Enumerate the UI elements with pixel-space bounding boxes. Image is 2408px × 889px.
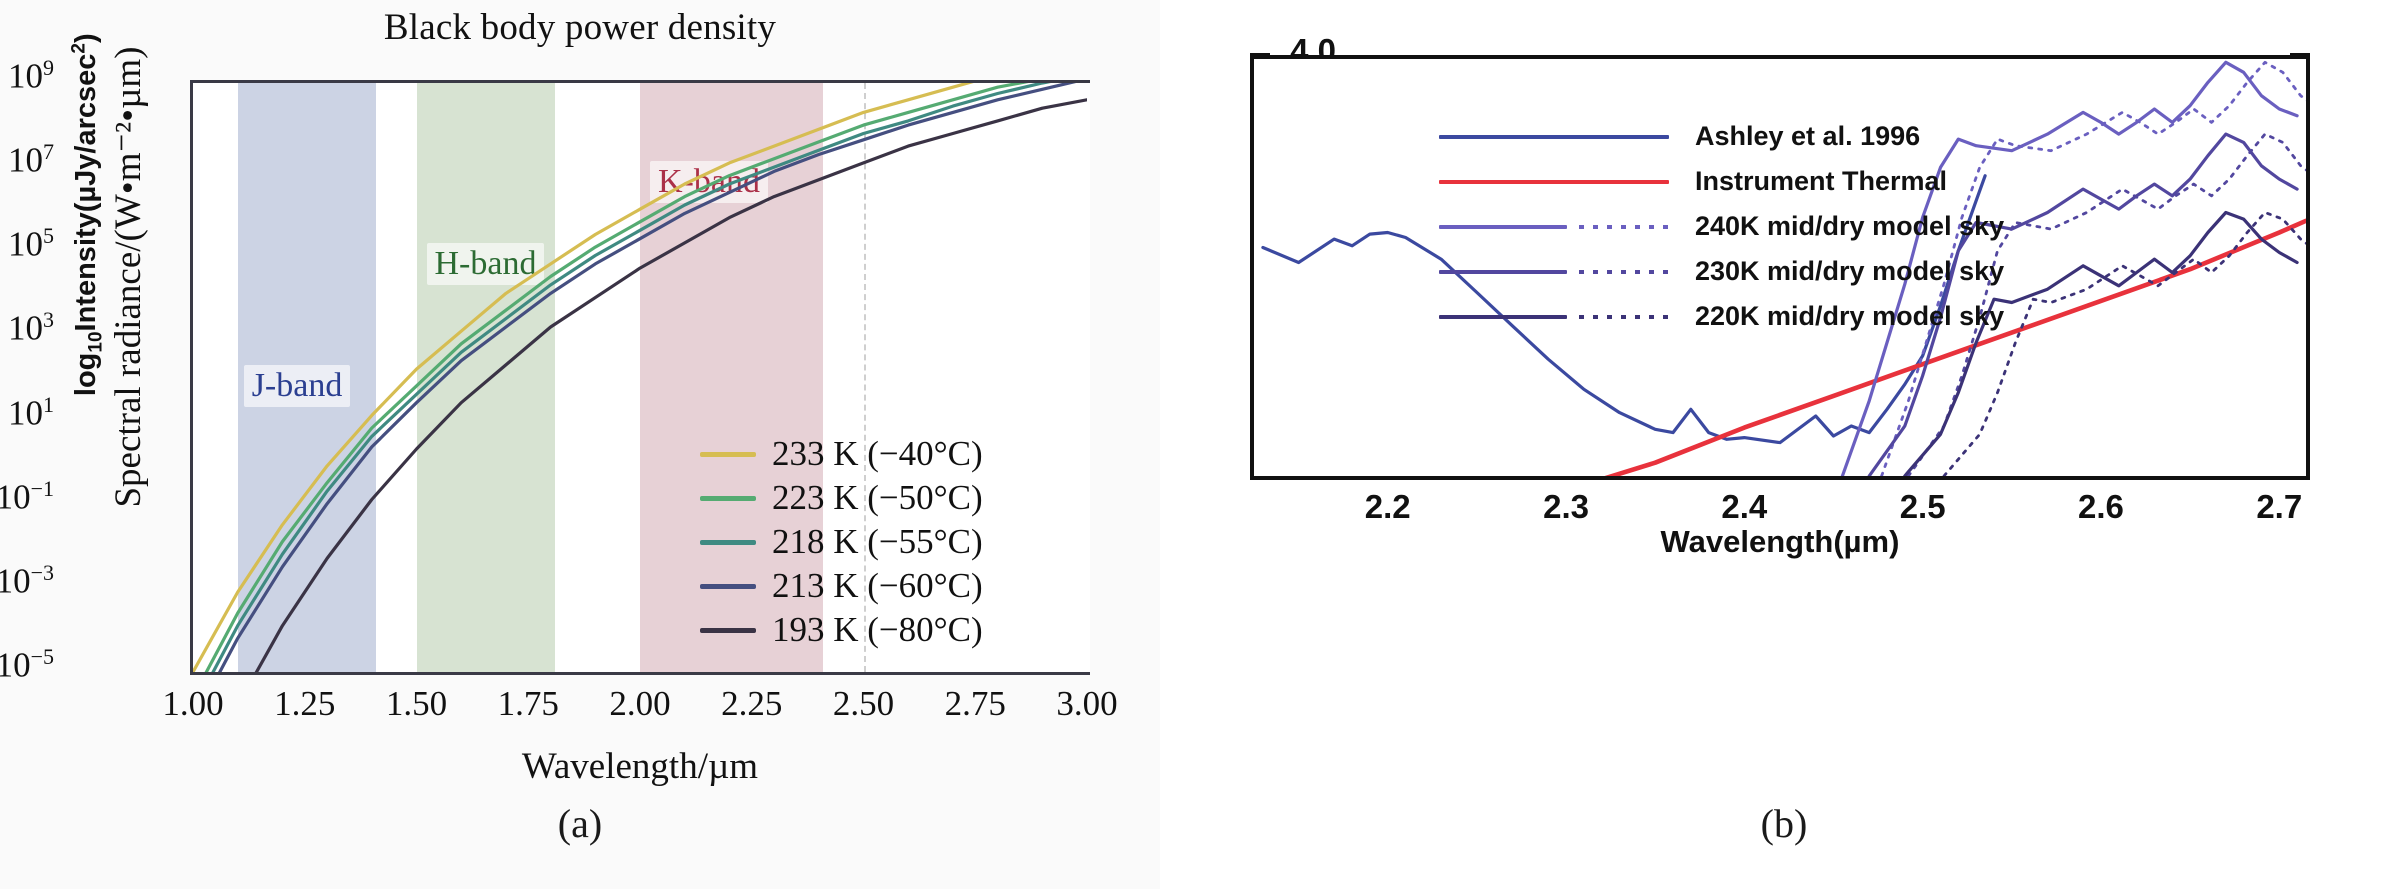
panel-b-legend-item: 230K mid/dry model sky bbox=[1439, 249, 2004, 294]
legend-key bbox=[1439, 171, 1669, 193]
panel-b-y-tickmark-right bbox=[2290, 470, 2310, 475]
panel-b-x-tickmark bbox=[1921, 458, 1926, 476]
panel-a-legend-item: 193 K (−80°C) bbox=[700, 608, 983, 652]
panel-b-caption: (b) bbox=[1160, 800, 2408, 847]
panel-b-x-tickmark-top bbox=[1386, 59, 1391, 77]
panel-a-y-tick: 109 bbox=[0, 55, 54, 97]
panel-a-caption: (a) bbox=[0, 800, 1160, 847]
legend-key bbox=[1439, 261, 1669, 283]
panel-a-legend-label: 218 K (−55°C) bbox=[772, 522, 983, 562]
legend-key bbox=[1439, 126, 1669, 148]
panel-b-minor-tickmark bbox=[2030, 59, 2033, 69]
panel-b-x-tickmark bbox=[2099, 458, 2104, 476]
panel-b-minor-tickmark bbox=[1673, 59, 1676, 69]
panel-b-y-tick: 3.5 bbox=[1186, 115, 1336, 153]
panel-b-minor-tickmark bbox=[2208, 59, 2211, 69]
panel-b-legend-label: Ashley et al. 1996 bbox=[1695, 121, 1920, 152]
panel-a-y-tick: 10−3 bbox=[0, 560, 54, 602]
panel-b-legend-item: 240K mid/dry model sky bbox=[1439, 204, 2004, 249]
panel-b-x-tickmark bbox=[1386, 458, 1391, 476]
panel-b-minor-tickmark bbox=[1602, 59, 1605, 69]
legend-key bbox=[1439, 306, 1669, 328]
panel-b-legend-item: 220K mid/dry model sky bbox=[1439, 294, 2004, 339]
curve-ashleyetal1996 bbox=[1263, 176, 1985, 443]
panel-a-legend-item: 223 K (−50°C) bbox=[700, 476, 983, 520]
panel-b-legend: Ashley et al. 1996Instrument Thermal240K… bbox=[1439, 114, 2004, 339]
panel-a-y-tick: 105 bbox=[0, 223, 54, 265]
panel-a-legend-item: 213 K (−60°C) bbox=[700, 564, 983, 608]
panel-b-x-tickmark-top bbox=[2099, 59, 2104, 77]
panel-a-y-axis-label-text: Spectral radiance/(W•m⁻²•µm) bbox=[108, 46, 149, 507]
curve-instrumentthermal bbox=[1602, 221, 2306, 476]
legend-swatch bbox=[700, 584, 756, 589]
panel-b-minor-tickmark bbox=[1923, 59, 1926, 69]
panel-b-y-tickmark bbox=[1250, 220, 1270, 225]
panel-b-minor-tickmark bbox=[1816, 59, 1819, 69]
curve-230kmiddrymodelsky bbox=[1869, 134, 2297, 476]
panel-a: Black body power density Spectral radian… bbox=[0, 0, 1160, 889]
panel-b-minor-tickmark bbox=[1388, 59, 1391, 69]
panel-b-legend-label: Instrument Thermal bbox=[1695, 166, 1947, 197]
panel-a-y-axis-label: Spectral radiance/(W•m⁻²•µm) bbox=[106, 0, 150, 557]
panel-b-minor-tickmark bbox=[1851, 59, 1854, 69]
panel-a-y-tick: 10−5 bbox=[0, 644, 54, 686]
panel-b-minor-tickmark bbox=[1459, 59, 1462, 69]
panel-b-y-tickmark-right bbox=[2290, 303, 2310, 308]
panel-a-title: Black body power density bbox=[0, 6, 1160, 49]
panel-b-minor-tickmark bbox=[1780, 59, 1783, 69]
panel-b-x-tickmark bbox=[1742, 458, 1747, 476]
panel-b-y-tick: 3.0 bbox=[1186, 199, 1336, 237]
panel-a-y-tick: 107 bbox=[0, 139, 54, 181]
curve-240kmiddrymodelsky bbox=[1842, 62, 2297, 476]
panel-b-minor-tickmark bbox=[2279, 59, 2282, 69]
legend-swatch bbox=[700, 628, 756, 633]
panel-b-minor-tickmark bbox=[1423, 59, 1426, 69]
legend-swatch bbox=[700, 540, 756, 545]
curve-220kmiddrymodelsky-dotted bbox=[1944, 213, 2306, 477]
curve-220kmiddrymodelsky bbox=[1905, 213, 2297, 477]
panel-a-legend-label: 223 K (−50°C) bbox=[772, 478, 983, 518]
panel-b-minor-tickmark bbox=[1495, 59, 1498, 69]
panel-a-y-tick: 10−1 bbox=[0, 476, 54, 518]
panel-b-y-tickmark-right bbox=[2290, 136, 2310, 141]
panel-b-y-tickmark-right bbox=[2290, 387, 2310, 392]
panel-b-minor-tickmark bbox=[2065, 59, 2068, 69]
panel-b-minor-tickmark bbox=[2101, 59, 2104, 69]
panel-b-x-tickmark-top bbox=[2277, 59, 2282, 77]
panel-b-x-axis-label: Wavelength(µm) bbox=[1250, 524, 2310, 560]
panel-b-y-tickmark bbox=[1250, 387, 1270, 392]
panel-b-legend-label: 230K mid/dry model sky bbox=[1695, 256, 2004, 287]
curve-230kmiddrymodelsky-dotted bbox=[1908, 134, 2306, 476]
panel-b-x-tickmark-top bbox=[1742, 59, 1747, 77]
panel-b-minor-tickmark bbox=[1530, 59, 1533, 69]
panel-b-y-tick: 4.0 bbox=[1186, 32, 1336, 70]
panel-b-y-tick: 1.5 bbox=[1186, 449, 1336, 487]
panel-b-minor-tickmark bbox=[2244, 59, 2247, 69]
panel-b-y-tickmark bbox=[1250, 470, 1270, 475]
panel-b-legend-label: 220K mid/dry model sky bbox=[1695, 301, 2004, 332]
curve-240kmiddrymodelsky-dotted bbox=[1882, 62, 2306, 476]
panel-a-legend-item: 233 K (−40°C) bbox=[700, 432, 983, 476]
panel-b-x-tick: 2.3 bbox=[1491, 488, 1641, 526]
panel-b-y-tickmark bbox=[1250, 136, 1270, 141]
panel-b-x-tick: 2.4 bbox=[1669, 488, 1819, 526]
panel-b-y-tickmark-right bbox=[2290, 53, 2310, 58]
panel-a-legend-label: 233 K (−40°C) bbox=[772, 434, 983, 474]
panel-b-legend-label: 240K mid/dry model sky bbox=[1695, 211, 2004, 242]
panel-b-x-tickmark-top bbox=[1564, 59, 1569, 77]
panel-b-minor-tickmark bbox=[1566, 59, 1569, 69]
panel-b-y-tickmark bbox=[1250, 53, 1270, 58]
panel-b: log10Intensity(µJy/arcsec2) 4.03.53.02.5… bbox=[1160, 0, 2408, 889]
panel-b-x-tick: 2.2 bbox=[1313, 488, 1463, 526]
panel-b-x-tickmark-top bbox=[1921, 59, 1926, 77]
panel-b-minor-tickmark bbox=[1994, 59, 1997, 69]
panel-b-minor-tickmark bbox=[1887, 59, 1890, 69]
panel-b-minor-tickmark bbox=[1637, 59, 1640, 69]
panel-b-minor-tickmark bbox=[1744, 59, 1747, 69]
figure-root: Black body power density Spectral radian… bbox=[0, 0, 2408, 889]
panel-b-y-tick: 2.5 bbox=[1186, 282, 1336, 320]
panel-a-legend-item: 218 K (−55°C) bbox=[700, 520, 983, 564]
panel-b-x-tick: 2.5 bbox=[1848, 488, 1998, 526]
panel-b-minor-tickmark bbox=[1709, 59, 1712, 69]
panel-b-minor-tickmark bbox=[2137, 59, 2140, 69]
panel-a-x-axis-label: Wavelength/µm bbox=[190, 745, 1090, 788]
panel-a-y-tick: 101 bbox=[0, 392, 54, 434]
legend-swatch bbox=[700, 452, 756, 457]
panel-b-x-tick: 2.7 bbox=[2204, 488, 2354, 526]
panel-b-minor-tickmark bbox=[1352, 59, 1355, 69]
legend-key bbox=[1439, 216, 1669, 238]
panel-a-legend-label: 193 K (−80°C) bbox=[772, 610, 983, 650]
panel-b-minor-tickmark bbox=[1316, 59, 1319, 69]
panel-b-x-tick: 2.6 bbox=[2026, 488, 2176, 526]
panel-b-curves bbox=[1254, 59, 2306, 476]
panel-b-minor-tickmark bbox=[1281, 59, 1284, 69]
panel-a-y-tick: 103 bbox=[0, 307, 54, 349]
panel-b-minor-tickmark bbox=[1958, 59, 1961, 69]
legend-swatch bbox=[700, 496, 756, 501]
panel-a-x-tick: 3.00 bbox=[1007, 684, 1167, 724]
panel-b-y-tickmark bbox=[1250, 303, 1270, 308]
panel-a-legend: 233 K (−40°C)223 K (−50°C)218 K (−55°C)2… bbox=[700, 432, 983, 652]
panel-b-x-tickmark bbox=[2277, 458, 2282, 476]
panel-b-legend-item: Instrument Thermal bbox=[1439, 159, 2004, 204]
panel-b-y-tick: 2.0 bbox=[1186, 366, 1336, 404]
panel-a-legend-label: 213 K (−60°C) bbox=[772, 566, 983, 606]
panel-b-y-tickmark-right bbox=[2290, 220, 2310, 225]
panel-b-x-tickmark bbox=[1564, 458, 1569, 476]
panel-b-minor-tickmark bbox=[2172, 59, 2175, 69]
panel-b-plot-area: Ashley et al. 1996Instrument Thermal240K… bbox=[1250, 55, 2310, 480]
panel-b-legend-item: Ashley et al. 1996 bbox=[1439, 114, 2004, 159]
